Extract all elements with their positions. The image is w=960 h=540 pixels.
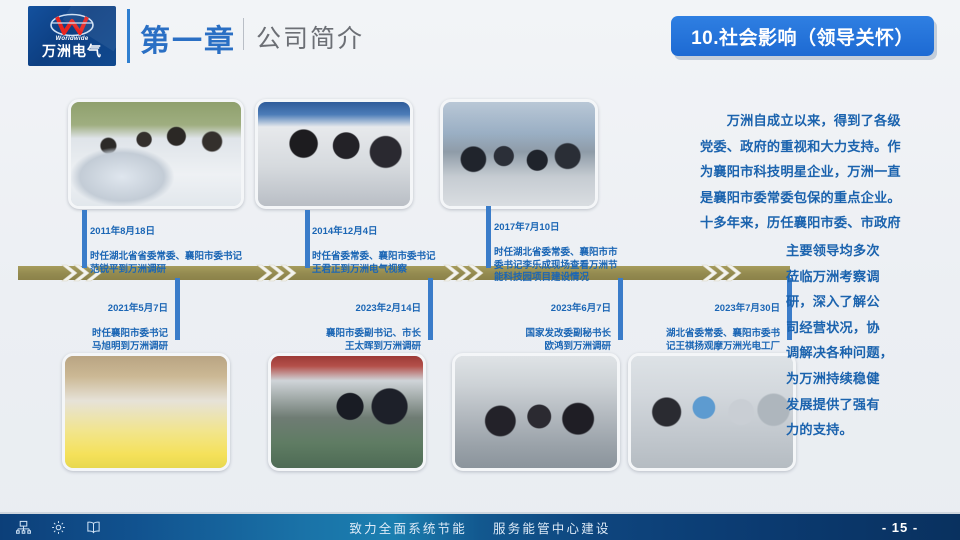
photo-2023-workshop-walk <box>268 353 426 471</box>
timeline-event-date: 2023年7月30日 <box>630 303 780 315</box>
description-paragraph-bottom: 主要领导均多次 莅临万洲考察调 研，深入了解公 司经营状况，协 调解决各种问题，… <box>786 238 958 443</box>
timeline-event-desc: 时任襄阳市委书记 马旭明到万洲调研 <box>35 328 168 353</box>
paragraph-line: 调解决各种问题， <box>786 340 958 366</box>
timeline-event-label: 2017年7月10日 时任湖北省委常委、襄阳市市 委书记李乐成现场查看万洲节 能… <box>494 210 618 297</box>
timeline-stem <box>486 206 491 268</box>
footer-slogan-right: 服务能管中心建设 <box>493 518 611 537</box>
chapter-title: 第一章 <box>140 16 236 60</box>
photo-2023-meeting-room <box>452 353 620 471</box>
timeline-stem <box>618 278 623 340</box>
section-badge: 10.社会影响（领导关怀） <box>671 16 934 56</box>
timeline-stem <box>305 210 310 268</box>
paragraph-line: 为襄阳市科技明星企业，万洲一直 <box>700 159 956 185</box>
timeline-event-desc: 时任湖北省省委常委、襄阳市委书记 范锐平到万洲调研 <box>90 251 242 276</box>
photo-2021-lobby-visit <box>62 353 230 471</box>
timeline-event-date: 2014年12月4日 <box>312 226 436 238</box>
timeline-event-desc: 时任湖北省委常委、襄阳市市 委书记李乐成现场查看万洲节 能科技园项目建设情况 <box>494 247 618 284</box>
paragraph-line: 力的支持。 <box>786 417 958 443</box>
chevron-right-icon <box>700 262 712 284</box>
timeline-event-desc: 襄阳市委副书记、市长 王太晖到万洲调研 <box>246 328 421 353</box>
company-logo: Worldwide 万洲电气 <box>28 6 116 66</box>
chevron-right-icon <box>255 262 267 284</box>
photo-2017-site-inspection <box>440 99 598 209</box>
timeline-event-label: 2011年8月18日 时任湖北省省委常委、襄阳市委书记 范锐平到万洲调研 <box>90 214 242 288</box>
paragraph-line: 发展提供了强有 <box>786 392 958 418</box>
timeline-event-desc: 国家发改委副秘书长 欧鸿到万洲调研 <box>448 328 611 353</box>
timeline-event-date: 2011年8月18日 <box>90 226 242 238</box>
timeline-event-desc: 湖北省委常委、襄阳市委书 记王祺扬观摩万洲光电工厂 <box>630 328 780 353</box>
paragraph-line: 党委、政府的重视和大力支持。作 <box>700 134 956 160</box>
timeline-event-date: 2021年5月7日 <box>35 303 168 315</box>
photo-2011-leaders-reviewing <box>68 99 244 209</box>
paragraph-line: 万洲自成立以来，得到了各级 <box>700 108 956 134</box>
header-accent-bar <box>127 9 130 63</box>
slide-header: Worldwide 万洲电气 第一章 公司简介 10.社会影响（领导关怀） <box>0 0 960 72</box>
timeline-event-date: 2023年6月7日 <box>448 303 611 315</box>
paragraph-line: 主要领导均多次 <box>786 238 958 264</box>
slide-footer: 致力全面系统节能 服务能管中心建设 - 15 - <box>0 514 960 540</box>
paragraph-line: 莅临万洲考察调 <box>786 264 958 290</box>
timeline-event-date: 2017年7月10日 <box>494 222 618 234</box>
description-paragraph-top: 万洲自成立以来，得到了各级 党委、政府的重视和大力支持。作 为襄阳市科技明星企业… <box>700 108 956 236</box>
chevron-right-icon <box>442 262 454 284</box>
page-number: - 15 - <box>840 514 960 540</box>
paragraph-line: 十多年来，历任襄阳市委、市政府 <box>700 210 956 236</box>
photo-2023-group-tour <box>628 353 796 471</box>
chevron-right-icon <box>60 262 72 284</box>
footer-slogan-left: 致力全面系统节能 <box>349 518 467 537</box>
timeline-event-date: 2023年2月14日 <box>246 303 421 315</box>
logo-chinese-text: 万洲电气 <box>28 41 116 61</box>
paragraph-line: 为万洲持续稳健 <box>786 366 958 392</box>
timeline-event-desc: 时任省委常委、襄阳市委书记 王君正到万洲电气视察 <box>312 251 436 276</box>
footer-slogan: 致力全面系统节能 服务能管中心建设 <box>0 514 960 540</box>
photo-2014-factory-visit <box>255 99 413 209</box>
paragraph-line: 司经营状况，协 <box>786 315 958 341</box>
page-subtitle: 公司简介 <box>256 19 364 55</box>
slide-root: Worldwide 万洲电气 第一章 公司简介 10.社会影响（领导关怀） <box>0 0 960 540</box>
timeline-event-label: 2014年12月4日 时任省委常委、襄阳市委书记 王君正到万洲电气视察 <box>312 214 436 288</box>
paragraph-line: 是襄阳市委常委包保的重点企业。 <box>700 185 956 211</box>
header-divider <box>243 18 244 50</box>
timeline-stem <box>82 210 87 268</box>
paragraph-line: 研，深入了解公 <box>786 289 958 315</box>
